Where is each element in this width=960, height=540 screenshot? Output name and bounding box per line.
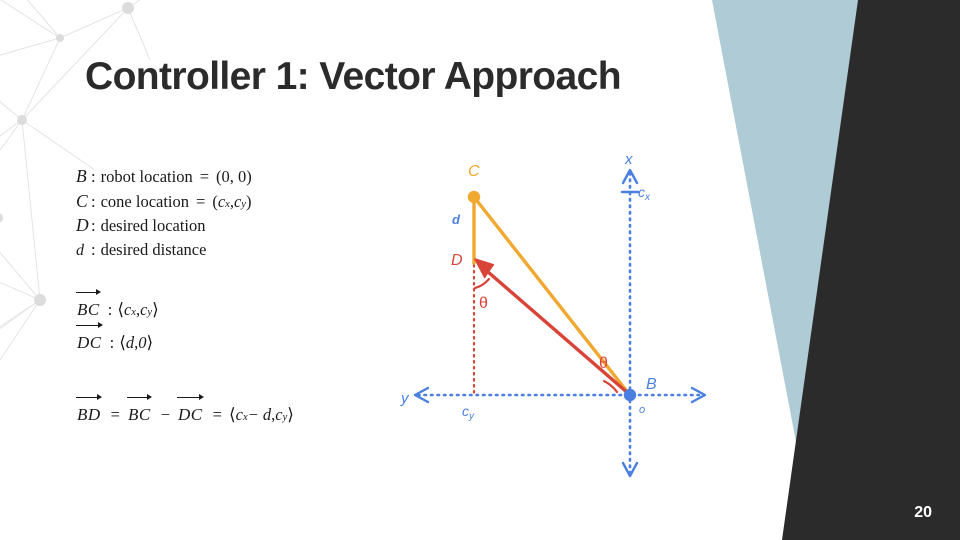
point-c-label: C [468, 163, 480, 180]
final-rhs-minus-d: − d [248, 405, 272, 425]
final-equation-block: BD = BC − DC = ⟨ cx − d , cy ⟩ [76, 405, 294, 425]
definition-text: desired distance [101, 240, 207, 260]
definition-row-C: C : cone location = ( cx , cy ) [76, 191, 252, 216]
slide-canvas: Controller 1: Vector Approach B : robot … [0, 0, 960, 540]
vector-bracket-close: ⟩ [146, 333, 153, 353]
final-rhs-cy: c [275, 405, 282, 425]
page-number: 20 [914, 504, 932, 522]
final-equals-2: = [213, 405, 222, 425]
vector-name-dc: DC [76, 333, 103, 353]
definition-text: cone location [101, 192, 189, 212]
definition-value-close: ) [246, 192, 252, 212]
definition-symbol: C [76, 191, 89, 212]
definition-equals: = [200, 167, 209, 187]
definition-symbol: d [76, 242, 89, 260]
final-bracket-close: ⟩ [287, 405, 294, 425]
segment-d-label: d [452, 212, 461, 227]
angle-theta-at-b-label: θ [599, 355, 608, 372]
axis-y-label: y [400, 390, 410, 407]
point-c-marker [468, 191, 480, 203]
definition-equals: = [196, 192, 205, 212]
definition-colon: : [91, 216, 96, 236]
definition-row-d: d : desired distance [76, 240, 252, 265]
vector-colon: : [108, 300, 113, 320]
final-vector-dc: DC [177, 405, 204, 425]
vector-bracket-close: ⟩ [152, 300, 159, 320]
point-b-marker [624, 389, 636, 401]
vector-row-DC: DC : ⟨ d , 0 ⟩ [76, 333, 159, 353]
definition-row-D: D : desired location [76, 215, 252, 240]
final-vector-bc: BC [127, 405, 152, 425]
final-minus: − [161, 405, 170, 425]
vector-bd-line [480, 265, 629, 394]
definition-symbol: B [76, 166, 89, 187]
angle-arc-at-d [475, 279, 489, 288]
vector-row-BC: BC : ⟨ cx , cy ⟩ [76, 300, 159, 320]
definition-colon: : [91, 167, 96, 187]
vector-bracket-open: ⟨ [117, 300, 124, 320]
definition-symbol: D [76, 215, 89, 236]
final-equals-1: = [111, 405, 120, 425]
vector-definitions-block: BC : ⟨ cx , cy ⟩ DC : ⟨ d , 0 ⟩ [76, 300, 159, 366]
vector-bracket-open: ⟨ [119, 333, 126, 353]
point-b-label: B [646, 376, 657, 393]
vector-colon: : [110, 333, 115, 353]
final-vector-bd: BD [76, 405, 102, 425]
definition-value: 0, 0 [222, 167, 247, 187]
final-bracket-open: ⟨ [229, 405, 236, 425]
axis-x-label: x [624, 151, 633, 168]
vector-comp2: 0 [138, 333, 146, 353]
final-rhs-cx: c [236, 405, 243, 425]
origin-label: o [639, 404, 645, 416]
vector-geometry-diagram: x cx y cy C D B o d θ θ [390, 145, 730, 495]
vector-comp1: d [126, 333, 134, 353]
tick-cx-label: cx [638, 184, 651, 203]
vector-name-bc: BC [76, 300, 101, 320]
definition-text: robot location [101, 167, 193, 187]
angle-theta-at-d-label: θ [479, 295, 488, 312]
final-equation-row: BD = BC − DC = ⟨ cx − d , cy ⟩ [76, 405, 294, 425]
definitions-block: B : robot location = ( 0, 0 ) C : cone l… [76, 166, 252, 264]
tick-cy-label: cy [462, 403, 475, 422]
page-title: Controller 1: Vector Approach [85, 55, 621, 99]
definition-text: desired location [101, 216, 206, 236]
definition-colon: : [91, 240, 96, 260]
definition-value-close: ) [246, 167, 252, 187]
definition-row-B: B : robot location = ( 0, 0 ) [76, 166, 252, 191]
point-d-label: D [451, 252, 463, 269]
definition-colon: : [91, 192, 96, 212]
